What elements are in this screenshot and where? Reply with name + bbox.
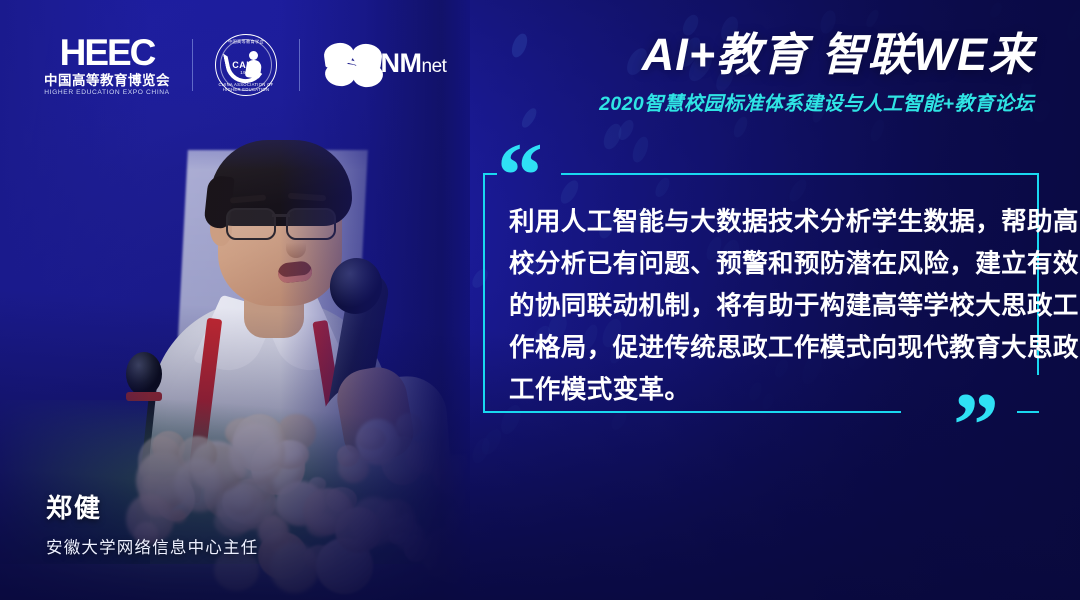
cahe-arc-top-text: 中国高等教育学会 — [215, 39, 277, 45]
quote-line: 校分析已有问题、预警和预防潜在风险，建立有效 — [509, 243, 1017, 285]
sunmnet-wordmark: SUNM — [344, 48, 422, 78]
sunmnet-logo: SUNMnet — [322, 39, 434, 91]
cahe-wordmark: CAHE — [215, 60, 277, 70]
quote-border-left — [483, 173, 485, 413]
quote-border-top-right — [561, 173, 1039, 175]
slide-canvas: HEEC 中国高等教育博览会 HIGHER EDUCATION EXPO CHI… — [0, 0, 1080, 600]
sunmnet-suffix: net — [422, 56, 447, 77]
speaker-name: 郑健 — [46, 488, 258, 525]
quote-line: 工作模式变革。 — [509, 369, 1017, 411]
quote-text: 利用人工智能与大数据技术分析学生数据，帮助高校分析已有问题、预警和预防潜在风险，… — [509, 201, 1017, 411]
speaker-role: 安徽大学网络信息中心主任 — [46, 534, 258, 558]
quote-line: 利用人工智能与大数据技术分析学生数据，帮助高 — [509, 201, 1017, 243]
quote-line: 的协同联动机制，将有助于构建高等学校大思政工 — [509, 285, 1017, 327]
heec-chinese-name: 中国高等教育博览会 — [44, 74, 170, 88]
logo-divider-2 — [299, 39, 300, 91]
quote-border-bottom-left — [483, 411, 901, 413]
event-title: AI+教育 智联WE来 — [599, 30, 1034, 80]
logo-bar: HEEC 中国高等教育博览会 HIGHER EDUCATION EXPO CHI… — [44, 34, 434, 96]
speaker-caption: 郑健 安徽大学网络信息中心主任 — [46, 488, 258, 558]
heec-english-name: HIGHER EDUCATION EXPO CHINA — [43, 90, 172, 97]
cahe-figure-head-icon — [249, 51, 258, 60]
cahe-arc-bottom-text: CHINA ASSOCIATION OF HIGHER EDUCATION — [215, 82, 277, 92]
heec-wordmark: HEEC — [44, 34, 170, 71]
event-subtitle: 2020智慧校园标准体系建设与人工智能+教育论坛 — [599, 87, 1034, 116]
heec-logo: HEEC 中国高等教育博览会 HIGHER EDUCATION EXPO CHI… — [44, 34, 170, 96]
quote-border-bottom-right — [1017, 411, 1039, 413]
logo-divider-1 — [192, 39, 193, 91]
cahe-year: 1983 — [215, 70, 277, 75]
quote-line: 作格局，促进传统思政工作模式向现代教育大思政 — [509, 327, 1017, 369]
quote-panel: “ ” 利用人工智能与大数据技术分析学生数据，帮助高校分析已有问题、预警和预防潜… — [483, 173, 1039, 413]
cahe-logo: 中国高等教育学会 CAHE 1983 CHINA ASSOCIATION OF … — [215, 34, 277, 96]
event-title-block: AI+教育 智联WE来 2020智慧校园标准体系建设与人工智能+教育论坛 — [599, 30, 1034, 116]
quote-border-top-left — [483, 173, 497, 175]
